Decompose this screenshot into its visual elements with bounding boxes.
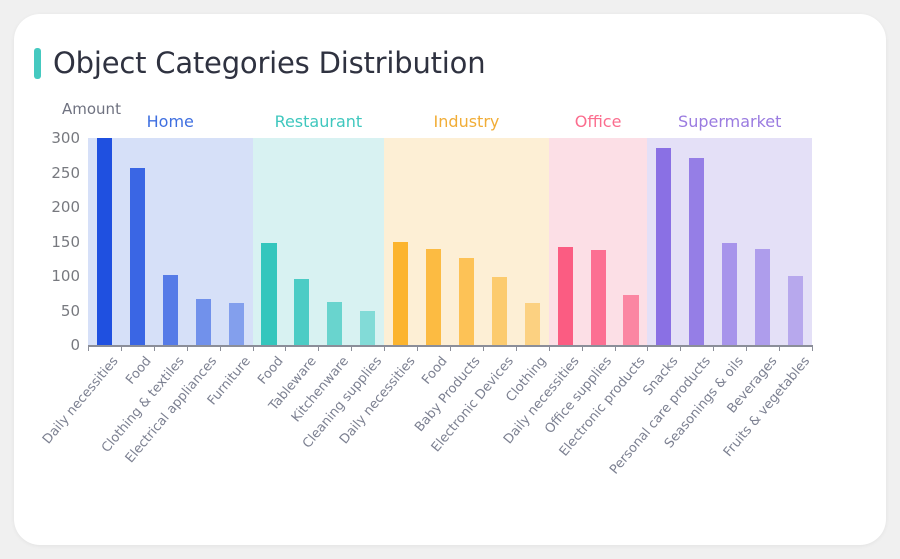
- bar[interactable]: [722, 243, 737, 345]
- group-label-industry: Industry: [434, 112, 500, 131]
- bar[interactable]: [426, 249, 441, 345]
- x-axis-label: Food: [255, 354, 287, 388]
- bar[interactable]: [459, 258, 474, 345]
- bar[interactable]: [97, 138, 112, 345]
- y-tick-label: 0: [36, 336, 80, 354]
- y-tick-label: 100: [36, 267, 80, 285]
- bar[interactable]: [689, 158, 704, 345]
- bar[interactable]: [492, 277, 507, 345]
- y-tick-label: 50: [36, 302, 80, 320]
- y-tick-label: 200: [36, 198, 80, 216]
- bar-chart: Amount 050100150200250300 HomeRestaurant…: [14, 14, 886, 545]
- x-tick: [812, 345, 813, 351]
- group-label-office: Office: [575, 112, 622, 131]
- bar[interactable]: [327, 302, 342, 345]
- y-tick-label: 150: [36, 233, 80, 251]
- group-label-home: Home: [147, 112, 194, 131]
- bar[interactable]: [163, 275, 178, 345]
- group-label-restaurant: Restaurant: [275, 112, 363, 131]
- x-axis-label: Food: [123, 354, 155, 388]
- y-tick-label: 300: [36, 129, 80, 147]
- y-axis-label: Amount: [62, 100, 121, 118]
- y-tick-label: 250: [36, 164, 80, 182]
- x-axis-line: [88, 345, 812, 347]
- bar[interactable]: [623, 295, 638, 345]
- chart-card: Object Categories Distribution Amount 05…: [14, 14, 886, 545]
- group-label-supermarket: Supermarket: [678, 112, 781, 131]
- plot-area: [88, 138, 812, 345]
- bar[interactable]: [196, 299, 211, 345]
- bar[interactable]: [788, 276, 803, 345]
- bar[interactable]: [591, 250, 606, 345]
- bar[interactable]: [525, 303, 540, 345]
- bar[interactable]: [229, 303, 244, 345]
- bar[interactable]: [294, 279, 309, 345]
- bar[interactable]: [755, 249, 770, 345]
- bar[interactable]: [130, 168, 145, 345]
- bar[interactable]: [558, 247, 573, 345]
- bar[interactable]: [360, 311, 375, 345]
- x-axis-label: Food: [419, 354, 451, 388]
- bar[interactable]: [656, 148, 671, 345]
- bar[interactable]: [261, 243, 276, 345]
- bar[interactable]: [393, 242, 408, 346]
